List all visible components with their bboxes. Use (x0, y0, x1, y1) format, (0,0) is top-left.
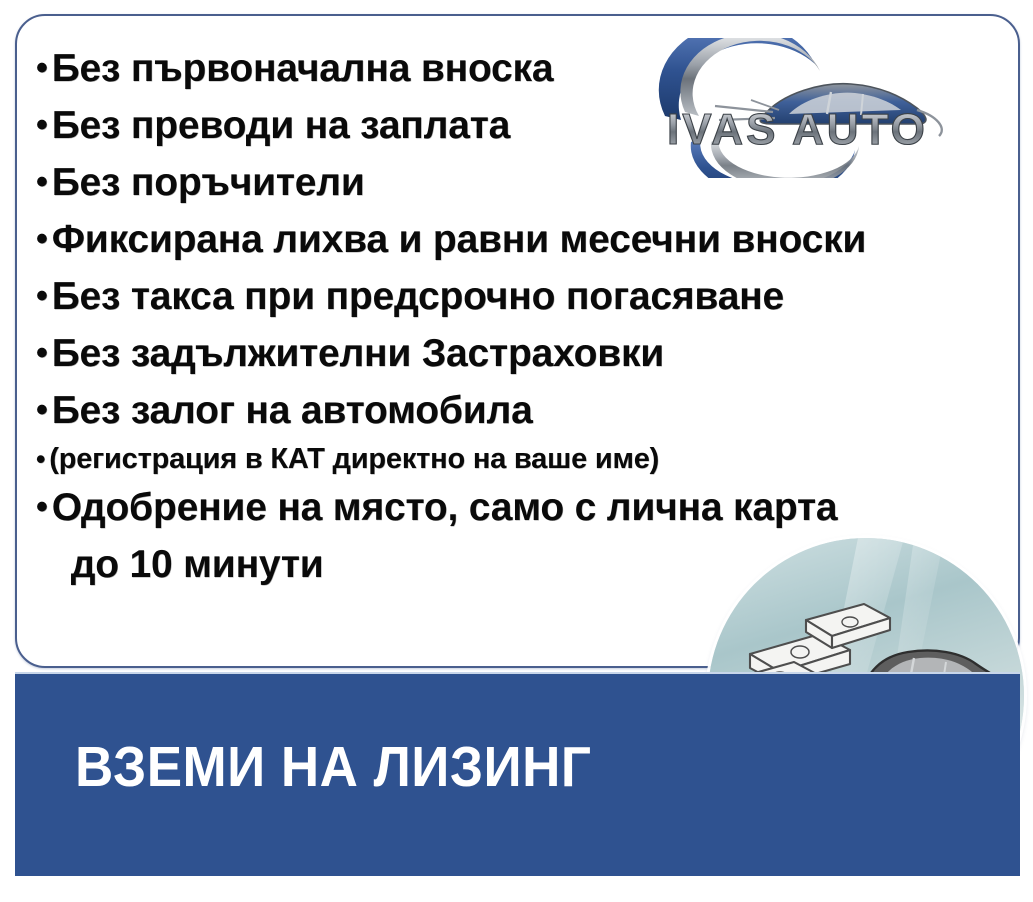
list-item: • Без задължителни Застраховки (36, 325, 1011, 382)
bullet-label: (регистрация в КАТ директно на ваше име) (49, 436, 1011, 482)
bullet-dot-icon: • (36, 211, 48, 268)
list-item: • (регистрация в КАТ директно на ваше им… (36, 436, 1011, 482)
bullet-label-line-1: Одобрение на място, само с лична карта (52, 486, 838, 529)
banner-label: ВЗЕМИ НА ЛИЗИНГ (75, 734, 591, 800)
bullet-dot-icon: • (36, 40, 48, 97)
bullet-dot-icon: • (36, 268, 48, 325)
bullet-label: Без залог на автомобила (52, 382, 1011, 439)
leasing-advertisement-poster: • Без първоначална вноска • Без преводи … (0, 0, 1033, 902)
bullet-label: Без задължителни Застраховки (52, 325, 1011, 382)
ivas-auto-logo: IVAS AUTO (655, 38, 975, 178)
logo-wordmark: IVAS AUTO (667, 105, 928, 154)
bullet-label: Фиксирана лихва и равни месечни вноски (52, 211, 1011, 268)
bullet-dot-icon: • (36, 97, 48, 154)
list-item: • Без такса при предсрочно погасяване (36, 268, 1011, 325)
list-item: • Без залог на автомобила (36, 382, 1011, 439)
list-item: • Фиксирана лихва и равни месечни вноски (36, 211, 1011, 268)
bullet-dot-icon: • (36, 479, 48, 536)
bullet-dot-icon: • (36, 325, 48, 382)
bullet-dot-icon: • (36, 154, 48, 211)
bullet-label: Без такса при предсрочно погасяване (52, 268, 1011, 325)
bullet-dot-icon: • (36, 436, 45, 482)
call-to-action-banner: ВЗЕМИ НА ЛИЗИНГ (15, 672, 1020, 876)
bullet-dot-icon: • (36, 382, 48, 439)
